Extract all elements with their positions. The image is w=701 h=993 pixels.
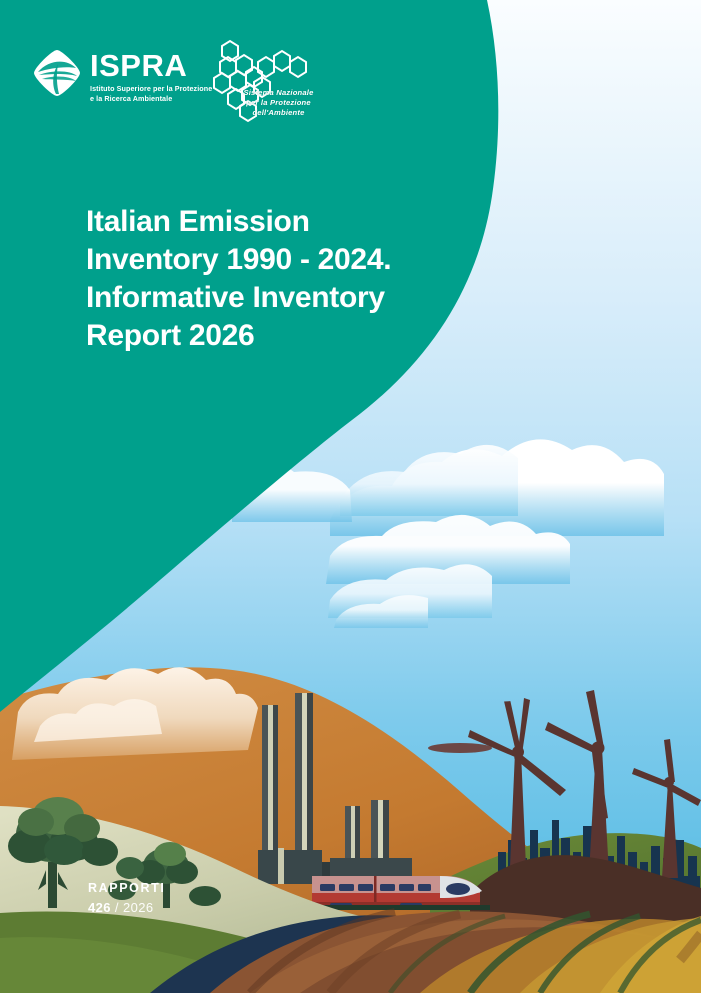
series-kicker: RAPPORTI xyxy=(88,880,165,897)
ispra-diamond-leaf-icon xyxy=(32,48,82,98)
ispra-subtitle: Istituto Superiore per la Protezione e l… xyxy=(90,84,212,103)
report-cover: ISPRA Istituto Superiore per la Protezio… xyxy=(0,0,701,993)
series-number: 426 xyxy=(88,900,111,915)
logo-bar: ISPRA Istituto Superiore per la Protezio… xyxy=(0,0,701,140)
snpa-hexagon-italy-icon xyxy=(196,36,346,136)
page-title: Italian Emission Inventory 1990 - 2024. … xyxy=(86,203,416,355)
report-series-badge: RAPPORTI 426 / 2026 xyxy=(88,880,165,917)
ispra-logo: ISPRA Istituto Superiore per la Protezio… xyxy=(32,48,212,103)
snpa-caption: Sistema Nazionale per la Protezione dell… xyxy=(216,88,341,118)
series-separator: / xyxy=(111,900,123,915)
teal-brand-shape xyxy=(0,0,701,993)
series-number-line: 426 / 2026 xyxy=(88,899,165,917)
series-year: 2026 xyxy=(123,900,154,915)
ispra-wordmark: ISPRA xyxy=(90,50,212,82)
